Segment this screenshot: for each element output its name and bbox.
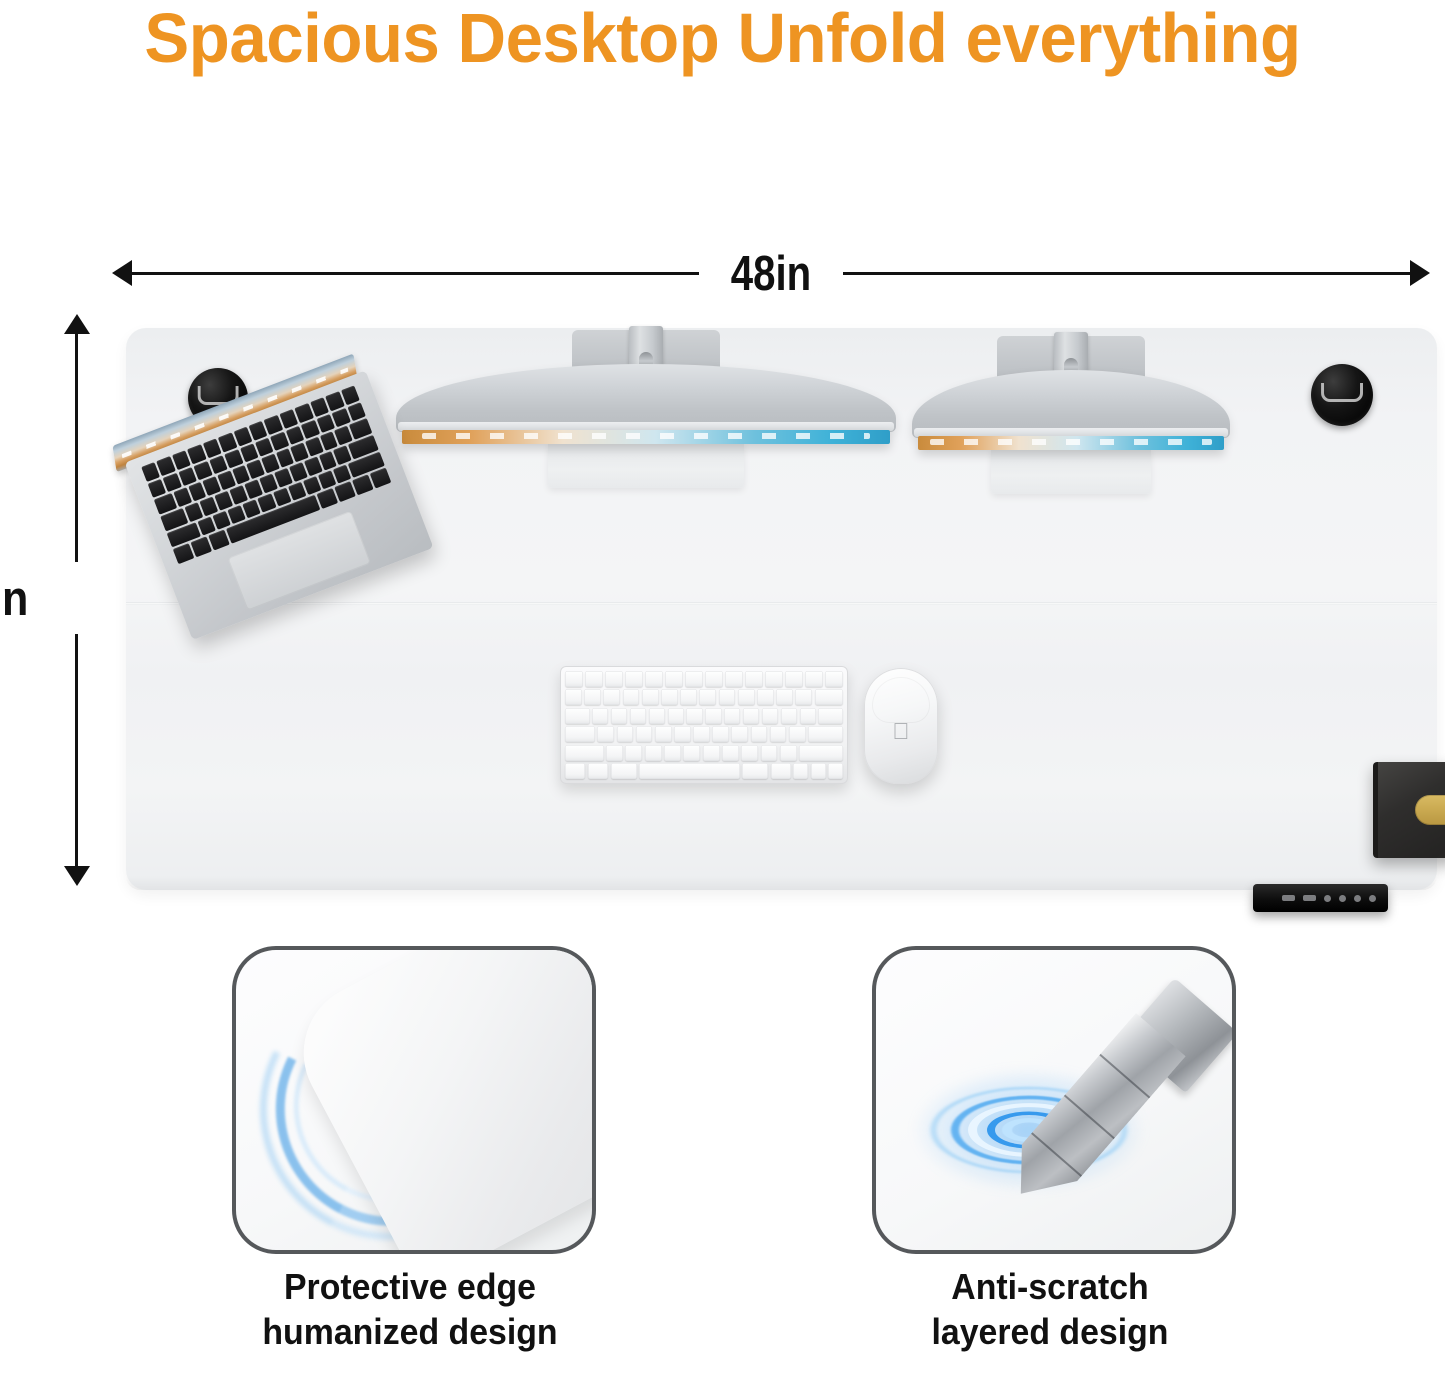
keyboard-row: [565, 689, 843, 705]
caption-line-1: Anti-scratch: [883, 1264, 1218, 1309]
blade-segment-line: [1099, 1054, 1150, 1099]
keyboard-row: [565, 726, 843, 742]
keypad-preset-1[interactable]: [1324, 895, 1331, 902]
cable-grommet-icon-right: [1311, 364, 1373, 426]
feature-panel-anti-scratch: [872, 946, 1236, 1254]
desk-front-edge: [126, 876, 1437, 890]
monitor-left: [396, 330, 896, 500]
monitor-screen-highlights: [422, 433, 871, 439]
caption-line-2: layered design: [883, 1309, 1218, 1354]
caption-line-1: Protective edge: [243, 1264, 578, 1309]
keyboard-row: [565, 745, 843, 761]
depth-dimension-label: 24in: [0, 570, 83, 628]
arrow-up-icon: [64, 314, 90, 334]
notebook: [1373, 762, 1445, 858]
width-dimension-label: 48in: [723, 246, 820, 302]
page-title: Spacious Desktop Unfold everything: [29, 0, 1416, 80]
desk-control-keypad[interactable]: [1253, 884, 1388, 912]
blade-segment-line: [1031, 1132, 1082, 1177]
keypad-button-down[interactable]: [1303, 895, 1316, 901]
mouse-top-seam: [872, 677, 930, 723]
wireless-keyboard: [560, 666, 848, 784]
feature-panels: Protective edge humanized design Anti-sc…: [0, 946, 1445, 1388]
keypad-button-up[interactable]: [1282, 895, 1295, 901]
desk-seam-line: [126, 602, 1437, 605]
monitor-screen-strip: [402, 430, 890, 444]
monitor-base: [548, 442, 744, 488]
arrow-right-icon: [1410, 260, 1430, 286]
width-dimension: 48in: [112, 258, 1430, 288]
caption-line-2: humanized design: [243, 1309, 578, 1354]
keyboard-grid: [565, 671, 843, 779]
notebook-gold-plate: [1415, 795, 1445, 825]
monitor-right: [912, 336, 1230, 502]
wireless-mouse: : [864, 668, 938, 784]
arrow-down-icon: [64, 866, 90, 886]
monitor-base: [991, 448, 1151, 494]
monitor-screen-highlights: [930, 439, 1212, 445]
keyboard-row: [565, 671, 843, 687]
keypad-preset-3[interactable]: [1354, 895, 1361, 902]
keyboard-row: [565, 763, 843, 779]
feature-caption-anti-scratch: Anti-scratch layered design: [883, 1264, 1218, 1354]
infographic-stage: Spacious Desktop Unfold everything 48in …: [0, 0, 1445, 1388]
keypad-preset-2[interactable]: [1339, 895, 1346, 902]
feature-panel-protective-edge: [232, 946, 596, 1254]
keypad-preset-m[interactable]: [1369, 895, 1376, 902]
monitor-screen-strip: [918, 436, 1224, 450]
apple-logo-icon: : [891, 720, 911, 743]
blade-segment-line: [1064, 1094, 1115, 1139]
feature-caption-protective-edge: Protective edge humanized design: [243, 1264, 578, 1354]
arrow-left-icon: [112, 260, 132, 286]
keyboard-row: [565, 708, 843, 724]
grommet-notch: [1321, 383, 1363, 402]
